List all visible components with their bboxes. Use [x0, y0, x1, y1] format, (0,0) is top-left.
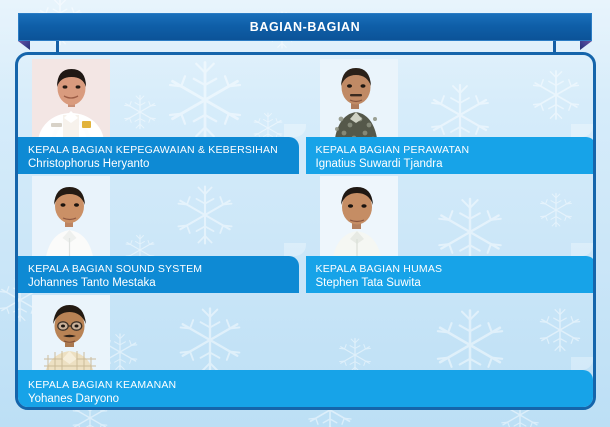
- staff-caption: KEPALA BAGIAN KEPEGAWAIAN & KEBERSIHAN C…: [18, 137, 299, 174]
- staff-caption: KEPALA BAGIAN PERAWATAN Ignatius Suwardi…: [306, 137, 594, 174]
- banner: BAGIAN-BAGIAN: [18, 13, 592, 41]
- staff-card[interactable]: KEPALA BAGIAN SOUND SYSTEM Johannes Tant…: [18, 174, 306, 293]
- staff-card[interactable]: KEPALA BAGIAN HUMAS Stephen Tata Suwita: [306, 174, 594, 293]
- staff-role: KEPALA BAGIAN PERAWATAN: [316, 143, 586, 157]
- portrait-photo: [32, 176, 110, 262]
- staff-name: Ignatius Suwardi Tjandra: [316, 157, 586, 172]
- caption-notch: [284, 243, 306, 256]
- staff-role: KEPALA BAGIAN HUMAS: [316, 262, 586, 276]
- staff-card[interactable]: KEPALA BAGIAN KEPEGAWAIAN & KEBERSIHAN C…: [18, 55, 306, 174]
- staff-name: Stephen Tata Suwita: [316, 276, 586, 291]
- caption-notch: [571, 243, 593, 256]
- staff-row: KEPALA BAGIAN KEPEGAWAIAN & KEBERSIHAN C…: [18, 55, 593, 174]
- staff-caption: KEPALA BAGIAN HUMAS Stephen Tata Suwita: [306, 256, 594, 293]
- staff-role: KEPALA BAGIAN KEAMANAN: [28, 378, 583, 392]
- page-title: BAGIAN-BAGIAN: [250, 20, 361, 34]
- caption-notch: [571, 124, 593, 137]
- staff-name: Christophorus Heryanto: [28, 157, 289, 172]
- staff-card[interactable]: KEPALA BAGIAN PERAWATAN Ignatius Suwardi…: [306, 55, 594, 174]
- portrait-photo: [32, 59, 110, 145]
- staff-row: KEPALA BAGIAN KEAMANAN Yohanes Daryono: [18, 293, 593, 410]
- portrait-photo: [320, 176, 398, 262]
- org-chart-panel: KEPALA BAGIAN KEPEGAWAIAN & KEBERSIHAN C…: [15, 52, 596, 410]
- caption-notch: [284, 124, 306, 137]
- staff-role: KEPALA BAGIAN KEPEGAWAIAN & KEBERSIHAN: [28, 143, 289, 157]
- staff-row: KEPALA BAGIAN SOUND SYSTEM Johannes Tant…: [18, 174, 593, 293]
- staff-caption: KEPALA BAGIAN KEAMANAN Yohanes Daryono: [18, 370, 593, 410]
- portrait-photo: [32, 295, 110, 381]
- banner-bar: BAGIAN-BAGIAN: [18, 13, 592, 41]
- caption-notch: [571, 357, 593, 370]
- staff-name: Johannes Tanto Mestaka: [28, 276, 289, 291]
- staff-caption: KEPALA BAGIAN SOUND SYSTEM Johannes Tant…: [18, 256, 299, 293]
- portrait-photo: [320, 59, 398, 145]
- staff-name: Yohanes Daryono: [28, 392, 583, 407]
- staff-card[interactable]: KEPALA BAGIAN KEAMANAN Yohanes Daryono: [18, 293, 593, 410]
- staff-role: KEPALA BAGIAN SOUND SYSTEM: [28, 262, 289, 276]
